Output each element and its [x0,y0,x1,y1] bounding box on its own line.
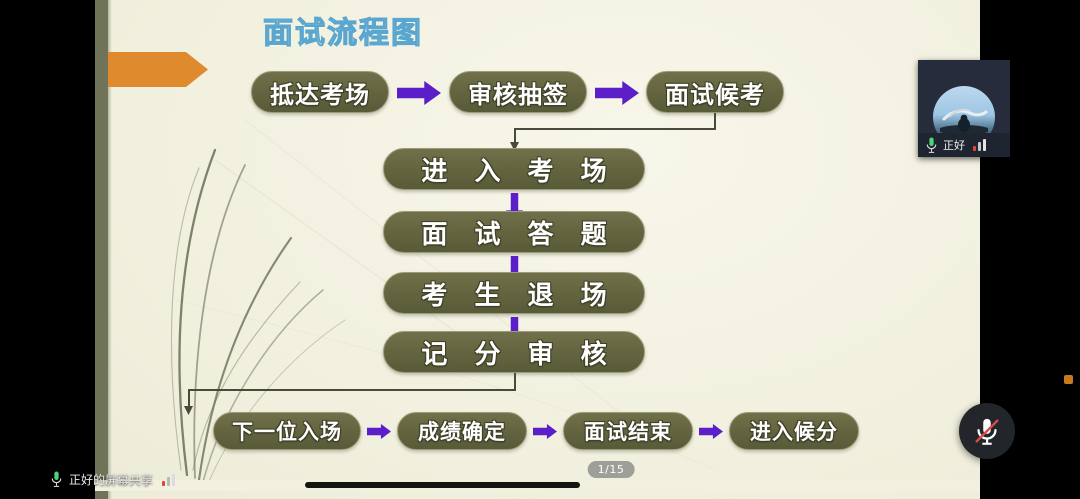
mute-microphone-button[interactable] [959,403,1015,459]
screen-share-window: 面试流程图 抵达考场 审核抽签 面试候考 进 入 考 场 面 试 答 题 考 生… [0,0,1080,499]
arrow-right-1 [397,81,441,105]
letterbox-left [0,0,95,499]
arrow-right-4 [533,424,557,439]
flow-node-score-confirm[interactable]: 成绩确定 [397,412,527,450]
microphone-muted-icon [972,416,1002,446]
flow-node-score-review[interactable]: 记 分 审 核 [383,331,645,373]
connector-enter-down [514,128,516,144]
recording-indicator-dot [1064,375,1073,384]
video-tile-footer: 正好 [918,133,1010,157]
arrow-right-2 [595,81,639,105]
flow-node-enter-room[interactable]: 进 入 考 场 [383,148,645,190]
flow-node-interview-answer[interactable]: 面 试 答 题 [383,211,645,253]
connector-score-down [514,373,516,390]
share-status-label: 正好的屏幕共享 [50,471,175,488]
flow-node-arrive[interactable]: 抵达考场 [251,71,389,113]
connector-waiting-down [714,113,716,129]
flow-node-review[interactable]: 审核抽签 [449,71,587,113]
arrow-right-3 [367,424,391,439]
share-label-text: 正好的屏幕共享 [69,471,153,488]
signal-bars-icon [973,139,986,151]
flow-node-waiting[interactable]: 面试候考 [646,71,784,113]
arrow-right-5 [699,424,723,439]
connector-score-left [188,389,516,391]
connector-next-down [188,389,190,408]
participant-name: 正好 [943,137,965,153]
flowchart: 抵达考场 审核抽签 面试候考 进 入 考 场 面 试 答 题 考 生 退 场 记… [95,0,980,499]
microphone-icon [50,471,63,488]
participant-video-tile[interactable]: 正好 [918,60,1010,157]
connector-next-arrowhead [184,406,193,415]
flow-node-next-candidate[interactable]: 下一位入场 [213,412,361,450]
flow-node-candidate-exit[interactable]: 考 生 退 场 [383,272,645,314]
horizontal-scroll-thumb[interactable] [305,482,580,488]
signal-bars-icon [162,474,175,486]
flow-node-await-score[interactable]: 进入候分 [729,412,859,450]
shared-slide[interactable]: 面试流程图 抵达考场 审核抽签 面试候考 进 入 考 场 面 试 答 题 考 生… [95,0,980,499]
microphone-icon [925,137,938,154]
connector-waiting-left [514,128,716,130]
page-indicator: 1/15 [588,461,635,478]
flow-node-interview-end[interactable]: 面试结束 [563,412,693,450]
